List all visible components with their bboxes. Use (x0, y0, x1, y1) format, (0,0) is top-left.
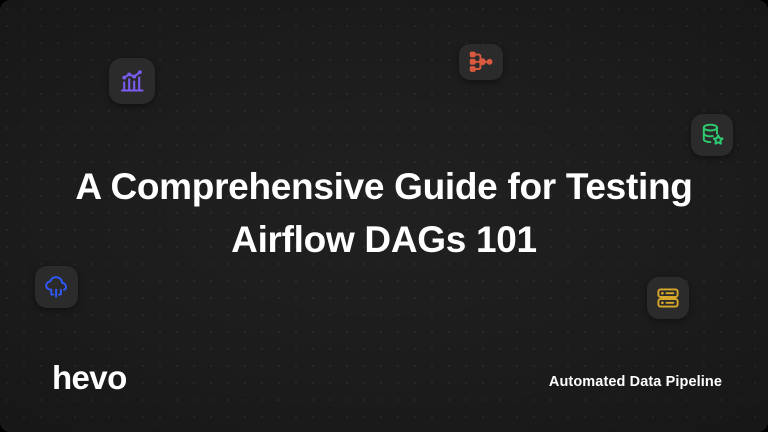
dag-graph-icon (468, 50, 494, 74)
icon-tile-server (647, 277, 689, 319)
icon-tile-analytics (109, 58, 155, 104)
server-rack-icon (655, 285, 681, 311)
analytics-chart-icon (118, 67, 146, 95)
headline: A Comprehensive Guide for Testing Airflo… (0, 160, 768, 266)
cloud-network-icon (43, 274, 70, 300)
icon-tile-dag (459, 44, 503, 80)
icon-tile-database (691, 114, 733, 156)
headline-line-1: A Comprehensive Guide for Testing (60, 160, 708, 213)
headline-line-2: Airflow DAGs 101 (60, 213, 708, 266)
database-star-icon (699, 122, 725, 148)
icon-tile-cloud (35, 266, 78, 308)
promotional-banner: A Comprehensive Guide for Testing Airflo… (0, 0, 768, 432)
tagline: Automated Data Pipeline (549, 375, 722, 390)
hevo-logo: hevo (52, 361, 127, 394)
